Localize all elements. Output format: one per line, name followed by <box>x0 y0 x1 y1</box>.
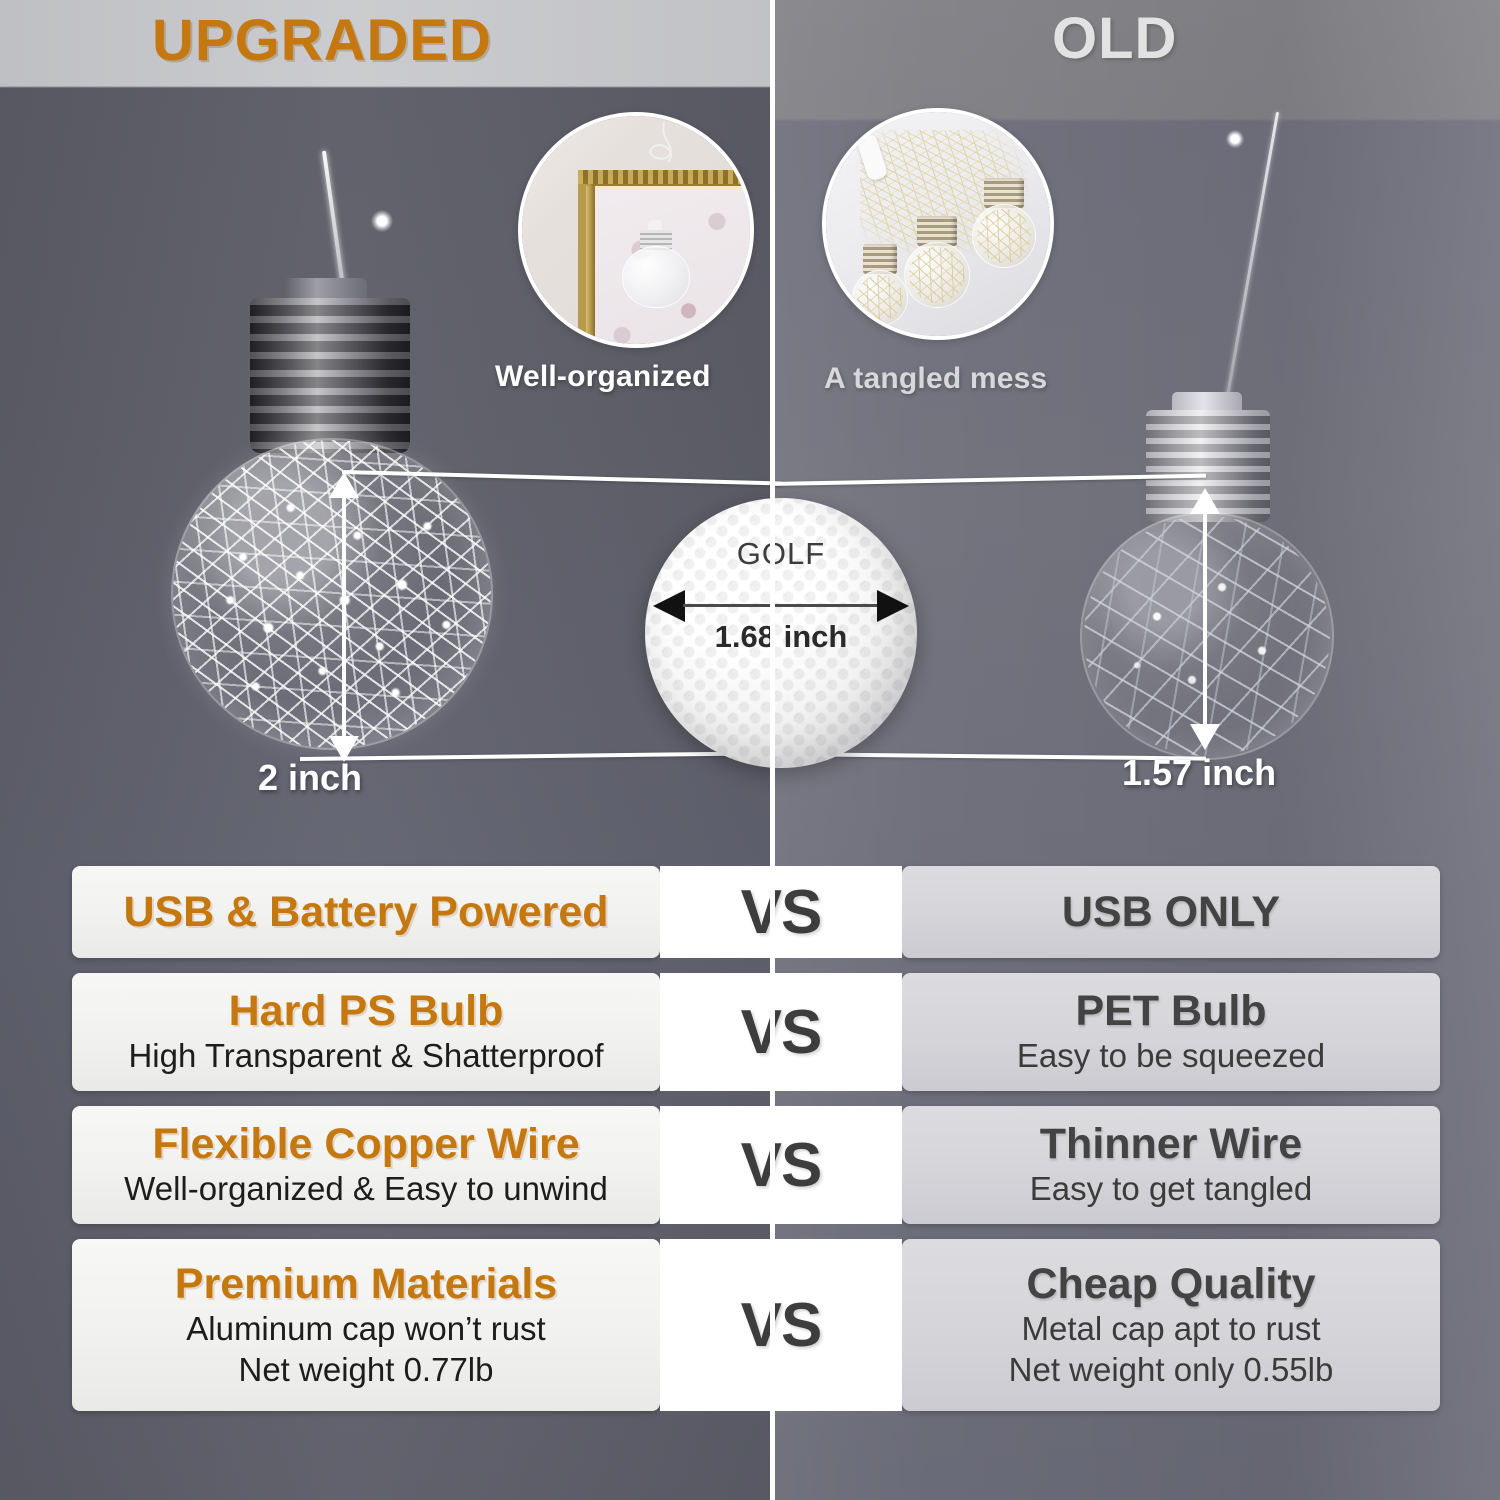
old-feature-cell: PET Bulb Easy to be squeezed <box>902 973 1440 1091</box>
inset-bulb <box>904 212 970 308</box>
row-spacer <box>1440 1239 1500 1411</box>
dimension-stem <box>342 486 346 748</box>
old-feature-cell: USB ONLY <box>902 866 1440 958</box>
old-feature-cell: Thinner Wire Easy to get tangled <box>902 1106 1440 1224</box>
table-row: Premium Materials Aluminum cap won’t rus… <box>0 1239 1500 1411</box>
upgraded-feature-cell: Premium Materials Aluminum cap won’t rus… <box>72 1239 660 1411</box>
feature-subtitle: Net weight only 0.55lb <box>1009 1349 1334 1390</box>
vs-label: VS <box>741 997 822 1068</box>
vs-column: VS <box>660 866 902 958</box>
arrow-left-icon <box>653 590 685 622</box>
golf-diameter-label: 1.68 inch <box>645 619 917 655</box>
inset-bulb <box>618 216 694 308</box>
led-spark <box>371 210 393 232</box>
inset-bulb <box>852 240 908 326</box>
old-feature-cell: Cheap Quality Metal cap apt to rust Net … <box>902 1239 1440 1411</box>
dimension-stem <box>1203 502 1207 736</box>
upgraded-bulb-photo <box>155 150 485 770</box>
feature-subtitle: Easy to be squeezed <box>1017 1035 1325 1076</box>
feature-title: PET Bulb <box>1075 987 1266 1035</box>
feature-title: Flexible Copper Wire <box>152 1120 579 1168</box>
well-organized-caption: Well-organized <box>495 360 711 394</box>
feature-subtitle: Aluminum cap won’t rust <box>186 1308 545 1349</box>
row-spacer <box>1440 1106 1500 1224</box>
vs-column: VS <box>660 1239 902 1411</box>
row-spacer <box>1440 866 1500 958</box>
feature-subtitle: Well-organized & Easy to unwind <box>124 1168 608 1209</box>
upgraded-feature-cell: USB & Battery Powered <box>72 866 660 958</box>
vs-label: VS <box>741 1290 822 1361</box>
vs-column: VS <box>660 1106 902 1224</box>
vs-label: VS <box>741 1130 822 1201</box>
left-bulb-size-label: 2 inch <box>258 757 362 799</box>
vs-label: VS <box>741 877 822 948</box>
upgraded-feature-cell: Hard PS Bulb High Transparent & Shatterp… <box>72 973 660 1091</box>
feature-title: Cheap Quality <box>1026 1260 1315 1308</box>
table-row: Hard PS Bulb High Transparent & Shatterp… <box>0 973 1500 1091</box>
tangled-mess-inset-photo <box>822 108 1054 340</box>
table-row: USB & Battery Powered VS USB ONLY <box>0 866 1500 958</box>
inset-bulb <box>972 174 1036 268</box>
feature-title: Hard PS Bulb <box>229 987 504 1035</box>
comparison-table: USB & Battery Powered VS USB ONLY Hard P… <box>0 866 1500 1426</box>
comparison-infographic: UPGRADED OLD Well-organized A <box>0 0 1500 1500</box>
led-spark <box>1226 130 1244 148</box>
feature-title: Thinner Wire <box>1040 1120 1302 1168</box>
golf-label: GOLF <box>645 536 917 572</box>
feature-subtitle: Net weight 0.77lb <box>239 1349 494 1390</box>
feature-title: USB ONLY <box>1062 888 1280 936</box>
golf-dimension-line <box>683 604 879 607</box>
arrow-down-icon <box>1190 724 1220 750</box>
well-organized-inset-photo <box>518 112 754 348</box>
feature-subtitle: Metal cap apt to rust <box>1022 1308 1321 1349</box>
feature-subtitle: High Transparent & Shatterproof <box>128 1035 603 1076</box>
hanging-wire-icon <box>630 122 690 222</box>
vs-column: VS <box>660 973 902 1091</box>
center-divider <box>770 0 775 1500</box>
feature-title: USB & Battery Powered <box>123 888 608 936</box>
old-header: OLD <box>1052 10 1177 68</box>
feature-subtitle: Easy to get tangled <box>1030 1168 1313 1209</box>
feature-title: Premium Materials <box>175 1260 557 1308</box>
aluminum-screw-cap <box>250 298 410 453</box>
right-bulb-size-label: 1.57 inch <box>1122 752 1276 794</box>
upgraded-feature-cell: Flexible Copper Wire Well-organized & Ea… <box>72 1106 660 1224</box>
right-bulb-dimension-arrow <box>1190 488 1220 750</box>
arrow-right-icon <box>877 590 909 622</box>
golf-ball-reference: GOLF 1.68 inch <box>645 498 917 768</box>
hanging-wire <box>1224 112 1279 408</box>
left-bulb-dimension-arrow <box>328 472 360 762</box>
row-spacer <box>1440 973 1500 1091</box>
tangled-mess-caption: A tangled mess <box>824 362 1047 396</box>
table-row: Flexible Copper Wire Well-organized & Ea… <box>0 1106 1500 1224</box>
upgraded-header: UPGRADED <box>152 12 492 70</box>
